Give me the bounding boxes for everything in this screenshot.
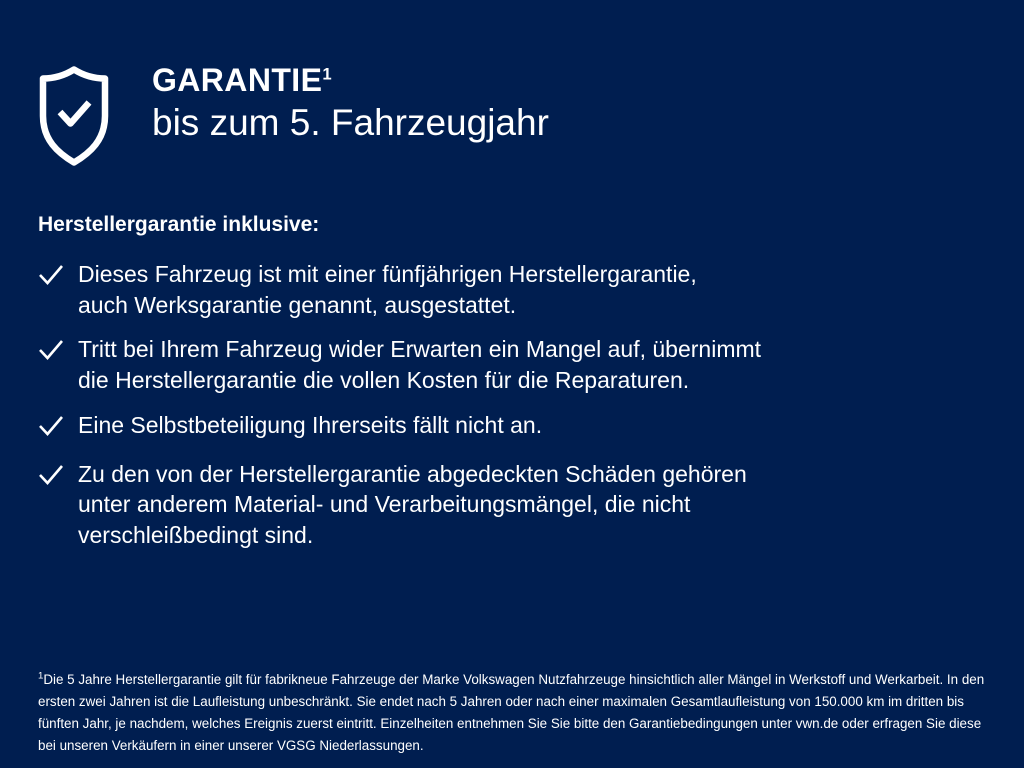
list-item-text: Zu den von der Herstellergarantie abgede… xyxy=(78,459,747,551)
content-block: Herstellergarantie inklusive: Dieses Fah… xyxy=(38,212,968,550)
page-subtitle: bis zum 5. Fahrzeugjahr xyxy=(152,104,549,143)
list-item-text: Dieses Fahrzeug ist mit einer fünfjährig… xyxy=(78,259,697,320)
list-item-text: Tritt bei Ihrem Fahrzeug wider Erwarten … xyxy=(78,334,761,395)
lead-heading: Herstellergarantie inklusive: xyxy=(38,212,968,237)
list-item: Tritt bei Ihrem Fahrzeug wider Erwarten … xyxy=(38,334,968,395)
list-item-text: Eine Selbstbeteiligung Ihrerseits fällt … xyxy=(78,410,542,441)
list-item: Zu den von der Herstellergarantie abgede… xyxy=(38,459,968,551)
benefits-list: Dieses Fahrzeug ist mit einer fünfjährig… xyxy=(38,259,968,550)
checkmark-icon xyxy=(38,264,64,294)
header: GARANTIE1 bis zum 5. Fahrzeugjahr xyxy=(38,58,549,168)
shield-check-icon xyxy=(38,64,110,168)
footnote-text: Die 5 Jahre Herstellergarantie gilt für … xyxy=(38,672,984,752)
page-title: GARANTIE1 xyxy=(152,64,549,96)
title-footnote-marker: 1 xyxy=(322,64,332,83)
checkmark-icon xyxy=(38,339,64,369)
list-item: Eine Selbstbeteiligung Ihrerseits fällt … xyxy=(38,410,968,445)
checkmark-icon xyxy=(38,415,64,445)
checkmark-icon xyxy=(38,464,64,494)
list-item: Dieses Fahrzeug ist mit einer fünfjährig… xyxy=(38,259,968,320)
page-title-text: GARANTIE xyxy=(152,62,322,98)
footnote: 1Die 5 Jahre Herstellergarantie gilt für… xyxy=(38,669,990,756)
warranty-info-slide: GARANTIE1 bis zum 5. Fahrzeugjahr Herste… xyxy=(0,0,1024,768)
header-text: GARANTIE1 bis zum 5. Fahrzeugjahr xyxy=(152,58,549,143)
